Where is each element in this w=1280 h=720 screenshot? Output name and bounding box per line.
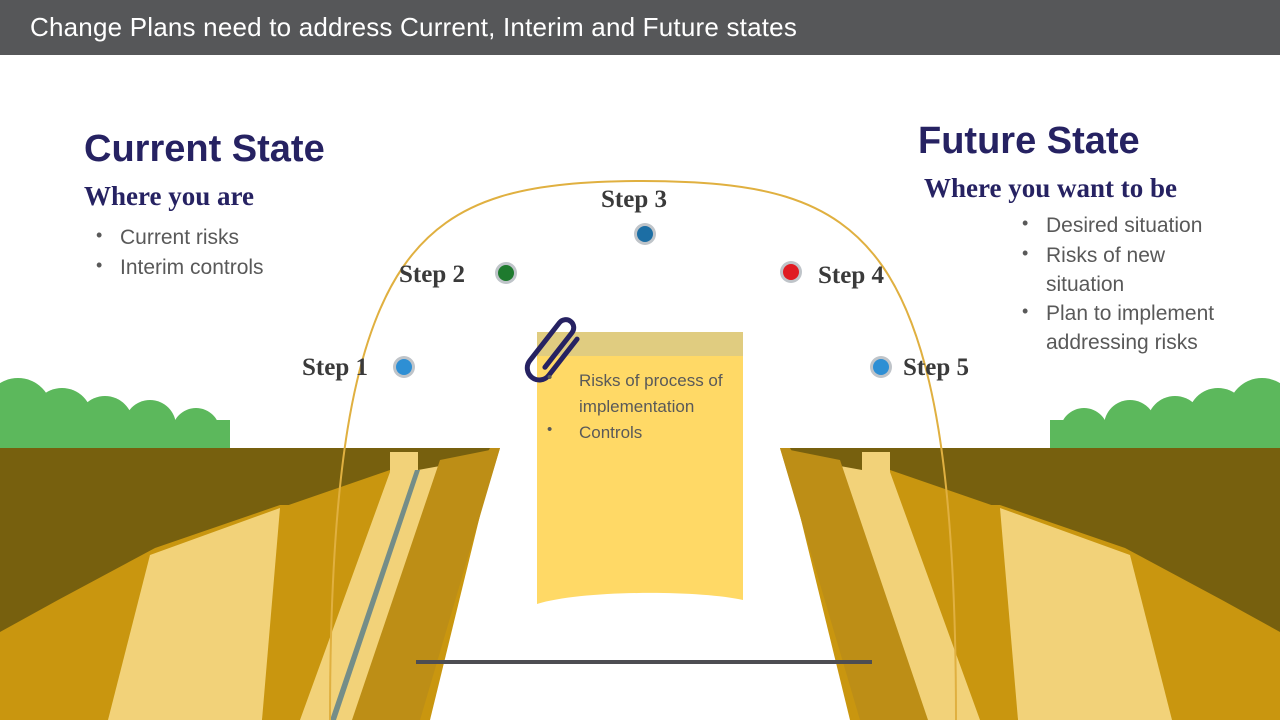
future-state-bullet: Desired situation: [1010, 212, 1240, 241]
future-state-panel: Future State Where you want to be Desire…: [918, 122, 1268, 359]
current-state-bullet: Interim controls: [84, 254, 414, 283]
sticky-note-text: Risks of process of implementation Contr…: [537, 368, 743, 445]
sticky-note-bullet: Risks of process of implementation: [537, 368, 743, 420]
future-state-bullet: Risks of new situation: [1010, 242, 1240, 300]
future-state-bullet: Plan to implement addressing risks: [1010, 300, 1240, 358]
sticky-note-bullet: Controls: [537, 420, 743, 446]
step-dot-2[interactable]: [495, 262, 517, 284]
right-bushes-icon: [1050, 378, 1280, 456]
current-state-heading: Current State: [84, 130, 414, 170]
step-label-3: Step 3: [601, 186, 667, 214]
step-label-4: Step 4: [818, 262, 884, 290]
left-cliff: [0, 448, 500, 720]
step-dot-5[interactable]: [870, 356, 892, 378]
right-cliff: [780, 448, 1280, 720]
sticky-note[interactable]: Risks of process of implementation Contr…: [537, 332, 743, 610]
sticky-note-bullet-list: Risks of process of implementation Contr…: [537, 368, 743, 445]
slide-canvas: Change Plans need to address Current, In…: [0, 0, 1280, 720]
step-dot-4[interactable]: [780, 261, 802, 283]
step-label-2: Step 2: [399, 261, 465, 289]
left-bushes-icon: [0, 378, 230, 456]
step-dot-1[interactable]: [393, 356, 415, 378]
current-state-panel: Current State Where you are Current risk…: [84, 130, 414, 284]
step-label-5: Step 5: [903, 354, 969, 382]
current-state-subheading: Where you are: [84, 182, 414, 212]
future-state-heading: Future State: [918, 122, 1268, 162]
current-state-bullet: Current risks: [84, 224, 414, 253]
step-label-1: Step 1: [302, 354, 368, 382]
current-state-bullet-list: Current risks Interim controls: [84, 224, 414, 283]
step-dot-3[interactable]: [634, 223, 656, 245]
future-state-bullet-list: Desired situation Risks of new situation…: [1010, 212, 1240, 359]
future-state-subheading: Where you want to be: [924, 174, 1268, 204]
